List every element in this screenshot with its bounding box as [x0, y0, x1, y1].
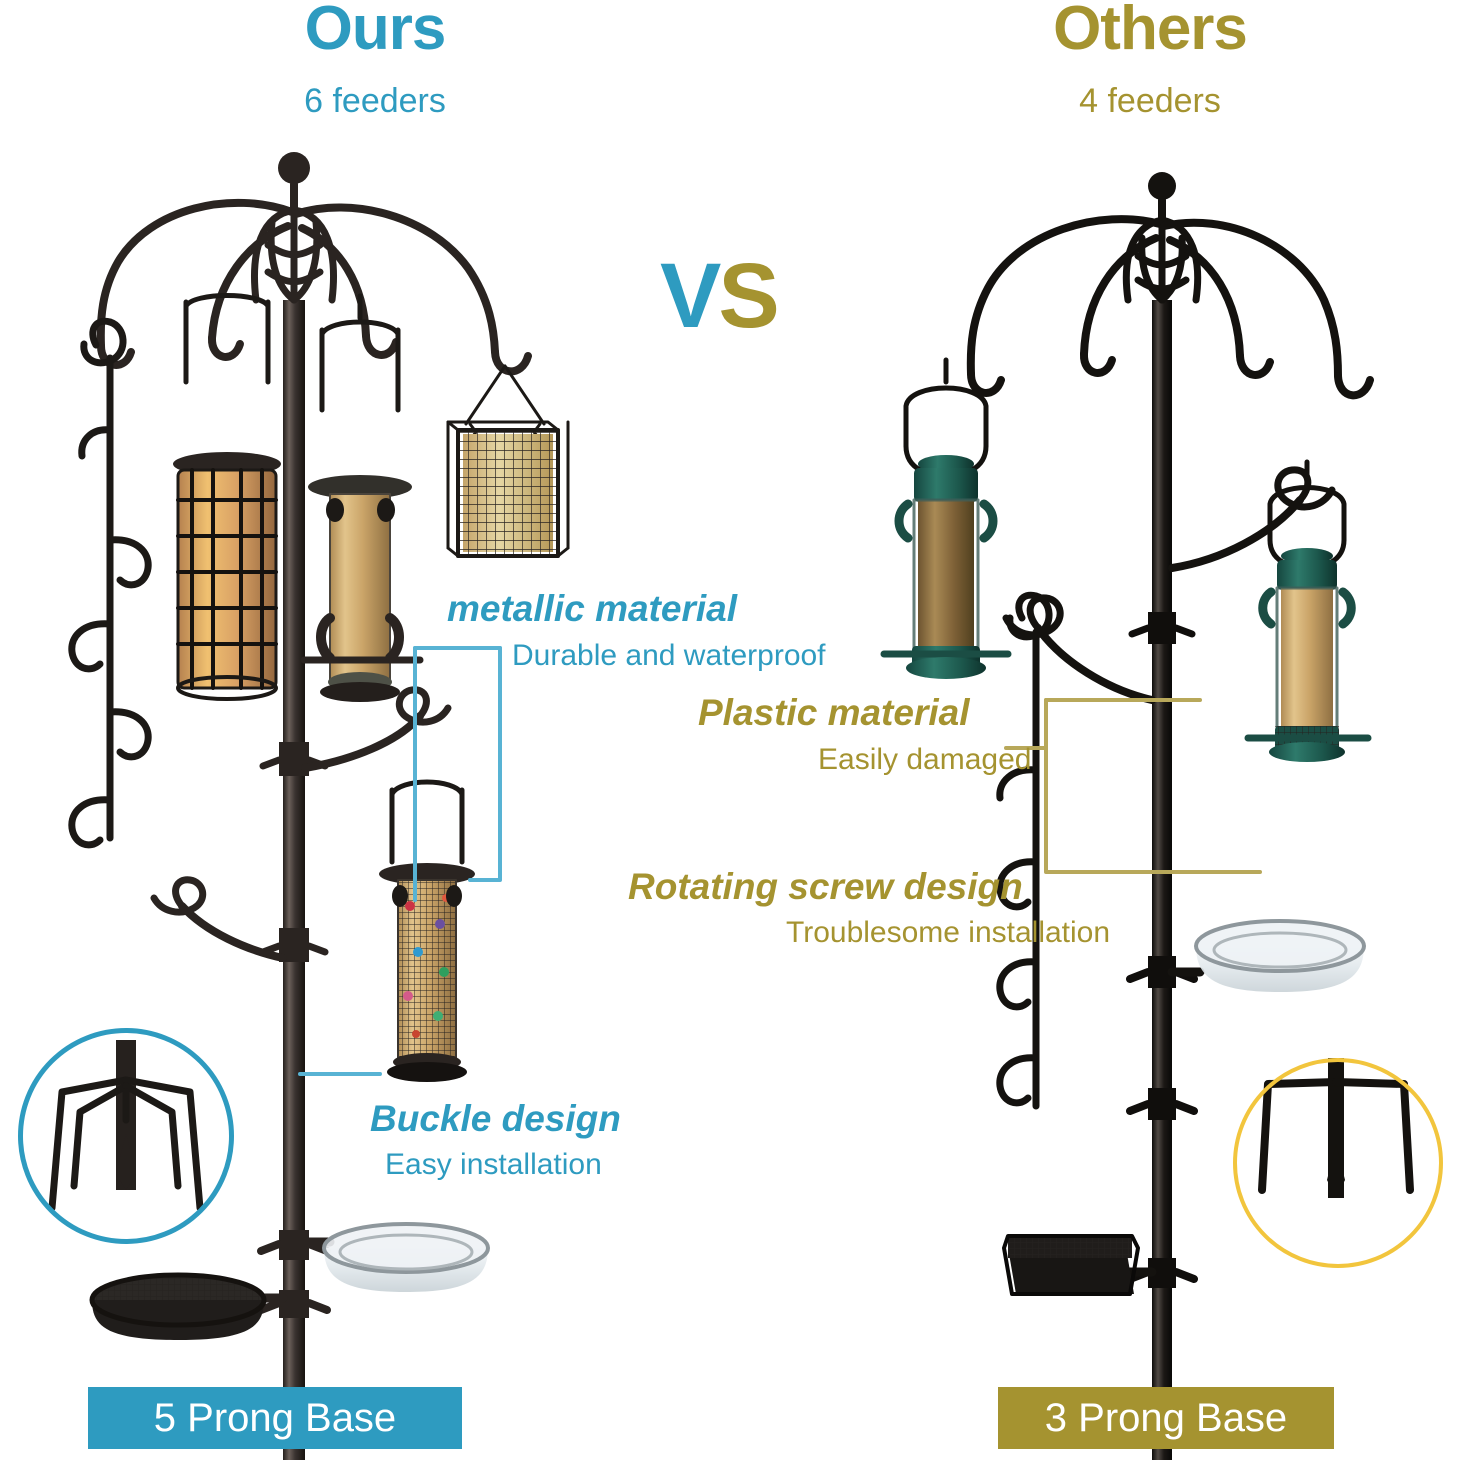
- annotation-rotating-subtitle: Troublesome installation: [786, 916, 1110, 949]
- clear-water-dish: [305, 1224, 488, 1292]
- green-plastic-tube-feeder-upper: [884, 360, 1008, 679]
- inset-ring-five-prong-base: [18, 1028, 234, 1244]
- versus-s: S: [718, 245, 776, 347]
- versus-v: V: [660, 245, 718, 347]
- annotation-plastic-title: Plastic material: [698, 694, 969, 733]
- banner-three-prong-base: 3 Prong Base: [998, 1387, 1334, 1449]
- mesh-seed-tray: [92, 1275, 283, 1340]
- versus-badge: VS: [660, 250, 777, 342]
- annotation-buckle-subtitle: Easy installation: [385, 1148, 602, 1181]
- inset-ring-three-prong-base: [1233, 1058, 1443, 1268]
- green-plastic-tube-feeder-lower: [1248, 462, 1368, 762]
- clear-water-dish-right: [1172, 921, 1364, 992]
- annotation-rotating-title: Rotating screw design: [628, 868, 1023, 907]
- heading-ours: Ours: [150, 0, 600, 61]
- banner-five-prong-base: 5 Prong Base: [88, 1387, 462, 1449]
- others-stand: [884, 172, 1370, 1460]
- annotation-metallic-subtitle: Durable and waterproof: [512, 639, 826, 672]
- black-mesh-seed-tray: [1004, 1236, 1152, 1294]
- square-suet-cage-feeder: [448, 366, 568, 556]
- caged-suet-ball-feeder: [173, 296, 281, 700]
- comparison-infographic: Ours 6 feeders Others 4 feeders VS metal…: [0, 0, 1463, 1461]
- ours-stand: [72, 152, 568, 1460]
- annotation-metallic-title: metallic material: [447, 590, 737, 629]
- annotation-buckle-title: Buckle design: [370, 1100, 621, 1139]
- mesh-peanut-feeder: [379, 782, 475, 1082]
- heading-others: Others: [950, 0, 1350, 61]
- tube-seed-feeder: [304, 296, 420, 702]
- subtitle-others: 4 feeders: [950, 82, 1350, 121]
- subtitle-ours: 6 feeders: [150, 82, 600, 121]
- annotation-plastic-subtitle: Easily damaged: [818, 743, 1031, 776]
